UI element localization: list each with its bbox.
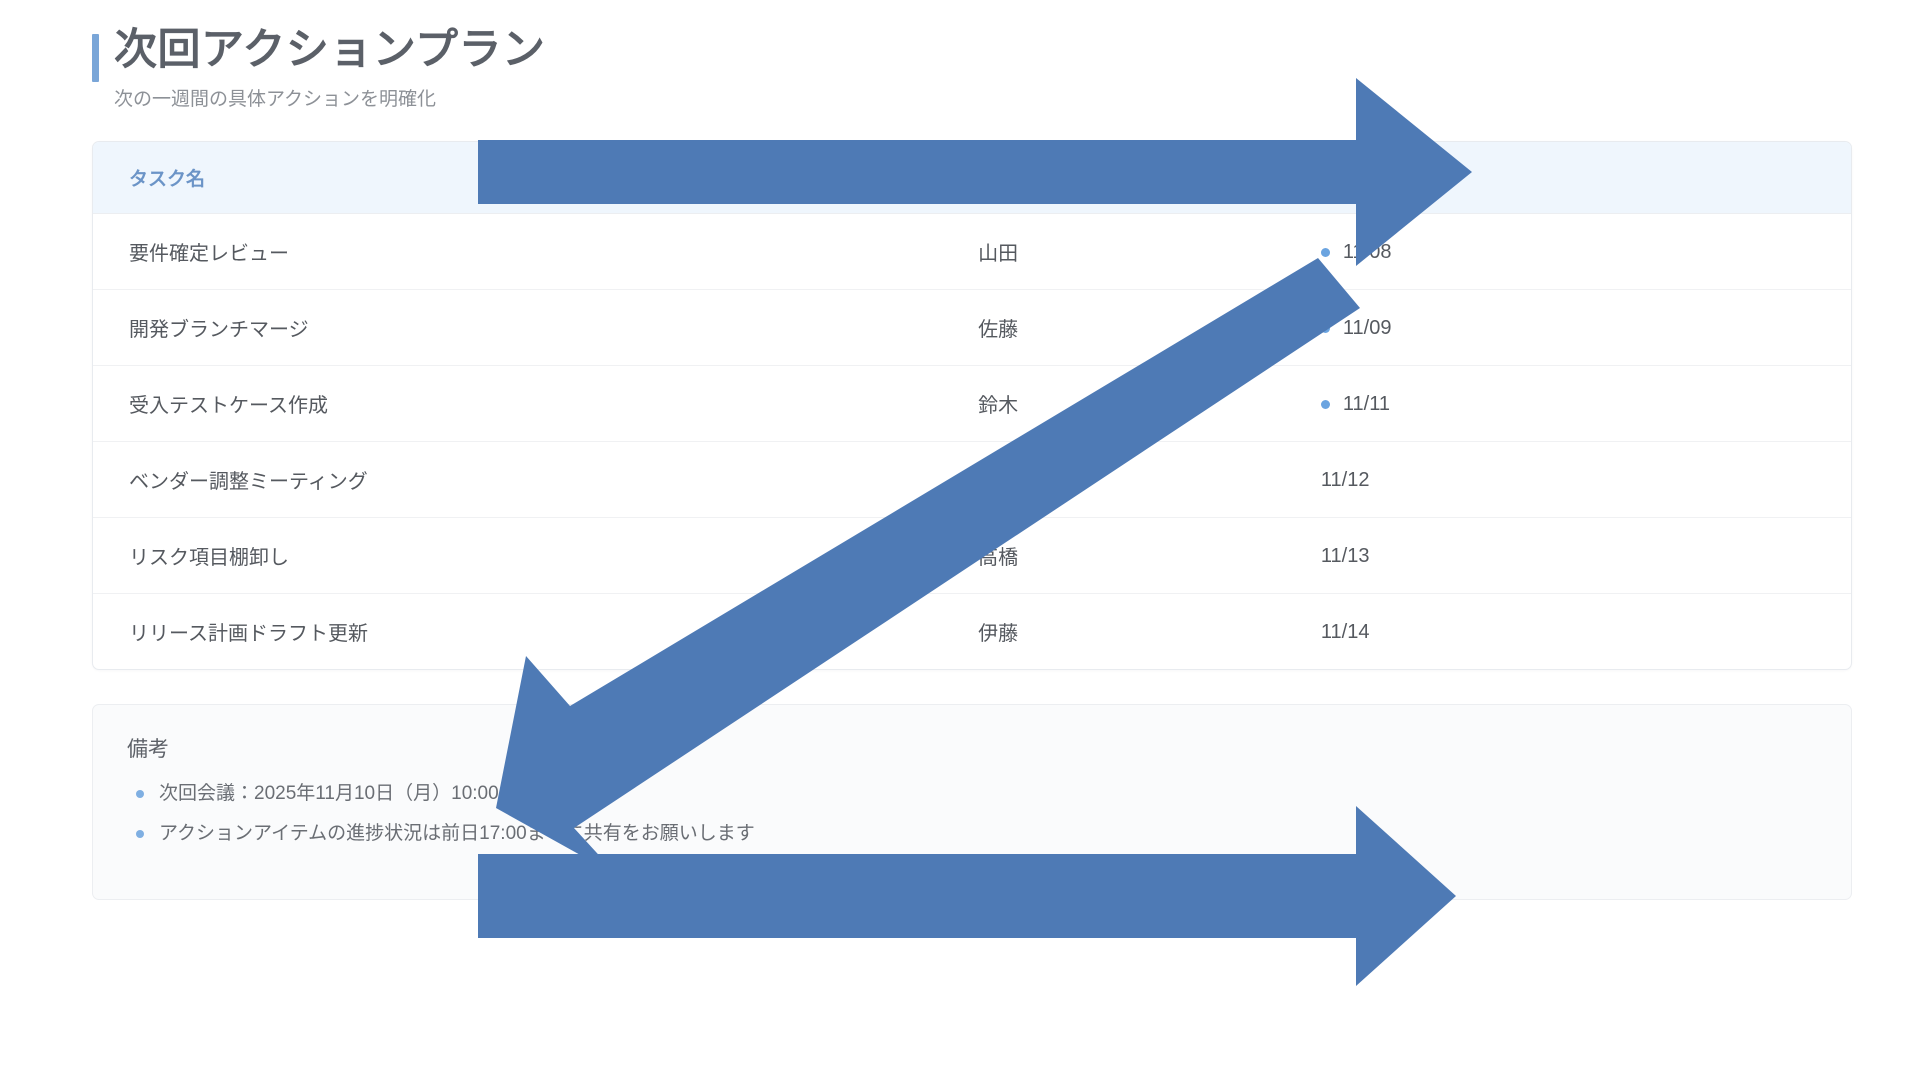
column-header-due[interactable]: 期限 — [1285, 142, 1851, 214]
title-accent-bar — [92, 34, 99, 82]
due-date-label: 11/12 — [1321, 469, 1370, 492]
page-subtitle: 次の一週間の具体アクションを明確化 — [114, 87, 1852, 114]
column-header-task[interactable]: タスク名 — [93, 142, 942, 214]
cell-task-name: リリース計画ドラフト更新 — [93, 594, 942, 670]
table-row[interactable]: リリース計画ドラフト更新伊藤11/14 — [93, 594, 1851, 670]
action-table-card: タスク名 担当者 期限 要件確定レビュー山田11/08開発ブランチマージ佐藤11… — [92, 141, 1852, 670]
table-row[interactable]: ベンダー調整ミーティング田中11/12 — [93, 442, 1851, 518]
content-container: 次回アクションプラン 次の一週間の具体アクションを明確化 タスク名 担当者 期限… — [92, 24, 1852, 900]
cell-due-date: 11/14 — [1285, 594, 1851, 670]
cell-task-name: 要件確定レビュー — [93, 214, 942, 290]
table-head: タスク名 担当者 期限 — [93, 142, 1851, 214]
due-date-wrapper: 11/12 — [1321, 469, 1370, 492]
page-header: 次回アクションプラン 次の一週間の具体アクションを明確化 — [92, 24, 1852, 113]
due-status-dot-icon — [1321, 400, 1330, 409]
table-body: 要件確定レビュー山田11/08開発ブランチマージ佐藤11/09受入テストケース作… — [93, 214, 1851, 670]
table-row[interactable]: 要件確定レビュー山田11/08 — [93, 214, 1851, 290]
cell-owner: 佐藤 — [942, 290, 1285, 366]
due-date-wrapper: 11/09 — [1321, 317, 1392, 340]
cell-task-name: 開発ブランチマージ — [93, 290, 942, 366]
cell-due-date: 11/12 — [1285, 442, 1851, 518]
cell-task-name: 受入テストケース作成 — [93, 366, 942, 442]
table-row[interactable]: 受入テストケース作成鈴木11/11 — [93, 366, 1851, 442]
page-root: 次回アクションプラン 次の一週間の具体アクションを明確化 タスク名 担当者 期限… — [0, 0, 1920, 1080]
cell-owner: 伊藤 — [942, 594, 1285, 670]
cell-due-date: 11/08 — [1285, 214, 1851, 290]
due-date-label: 11/13 — [1321, 545, 1370, 568]
note-bullet-icon — [136, 790, 144, 798]
due-date-label: 11/08 — [1343, 241, 1392, 264]
due-status-dot-icon — [1321, 324, 1330, 333]
notes-title: 備考 — [127, 733, 1817, 763]
due-date-wrapper: 11/13 — [1321, 545, 1370, 568]
page-title: 次回アクションプラン — [114, 24, 1852, 78]
due-date-wrapper: 11/11 — [1321, 393, 1390, 416]
cell-owner: 鈴木 — [942, 366, 1285, 442]
table-row[interactable]: 開発ブランチマージ佐藤11/09 — [93, 290, 1851, 366]
note-item: 次回会議：2025年11月10日（月）10:00 — [127, 779, 1817, 808]
due-date-label: 11/11 — [1343, 393, 1390, 416]
cell-due-date: 11/11 — [1285, 366, 1851, 442]
due-date-wrapper: 11/14 — [1321, 621, 1370, 644]
cell-task-name: リスク項目棚卸し — [93, 518, 942, 594]
notes-list: 次回会議：2025年11月10日（月）10:00アクションアイテムの進捗状況は前… — [127, 779, 1817, 848]
note-text: アクションアイテムの進捗状況は前日17:00までに共有をお願いします — [159, 823, 755, 844]
due-date-wrapper: 11/08 — [1321, 241, 1392, 264]
column-header-owner[interactable]: 担当者 — [942, 142, 1285, 214]
cell-due-date: 11/09 — [1285, 290, 1851, 366]
table-header-row: タスク名 担当者 期限 — [93, 142, 1851, 214]
cell-owner: 山田 — [942, 214, 1285, 290]
due-status-dot-icon — [1321, 248, 1330, 257]
due-date-label: 11/09 — [1343, 317, 1392, 340]
note-text: 次回会議：2025年11月10日（月）10:00 — [159, 783, 499, 804]
due-date-label: 11/14 — [1321, 621, 1370, 644]
table-row[interactable]: リスク項目棚卸し高橋11/13 — [93, 518, 1851, 594]
note-bullet-icon — [136, 830, 144, 838]
cell-task-name: ベンダー調整ミーティング — [93, 442, 942, 518]
notes-card: 備考 次回会議：2025年11月10日（月）10:00アクションアイテムの進捗状… — [92, 704, 1852, 900]
cell-owner: 田中 — [942, 442, 1285, 518]
note-item: アクションアイテムの進捗状況は前日17:00までに共有をお願いします — [127, 819, 1817, 848]
cell-due-date: 11/13 — [1285, 518, 1851, 594]
action-table: タスク名 担当者 期限 要件確定レビュー山田11/08開発ブランチマージ佐藤11… — [93, 142, 1851, 669]
cell-owner: 高橋 — [942, 518, 1285, 594]
